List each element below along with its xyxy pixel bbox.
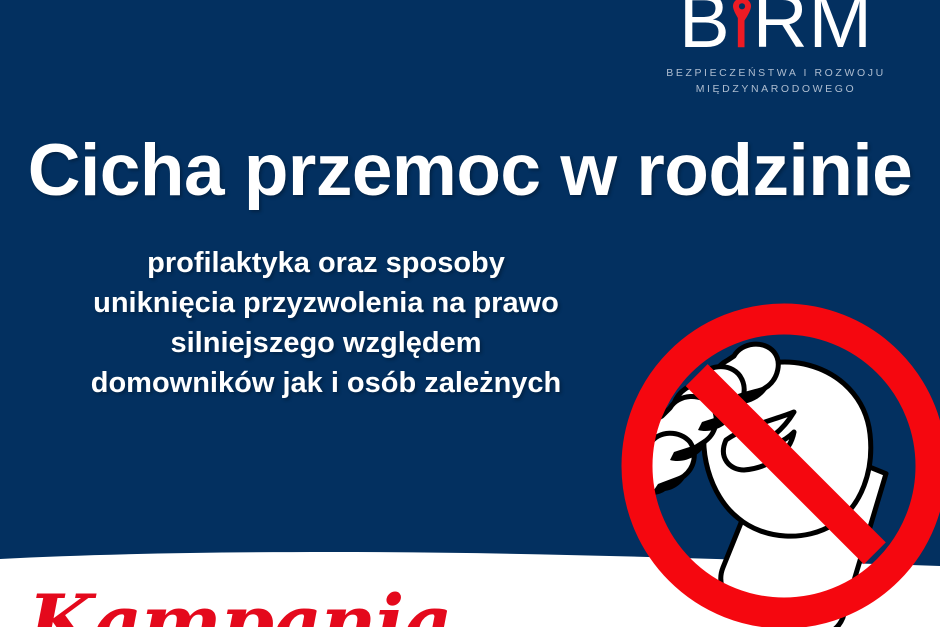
birm-logo: Bi RM BEZPIECZEŃSTWA I ROZWOJU MIĘDZYNAR… xyxy=(636,0,916,98)
no-violence-fist-icon xyxy=(618,298,940,627)
subtitle-line-1: profilaktyka oraz sposoby xyxy=(16,243,636,283)
subtitle-line-3: silniejszego względem xyxy=(16,323,636,363)
page-title: Cicha przemoc w rodzinie xyxy=(0,134,940,207)
subtitle-block: profilaktyka oraz sposoby uniknięcia prz… xyxy=(16,243,636,403)
birm-subtitle-line-1: BEZPIECZEŃSTWA I ROZWOJU xyxy=(636,65,916,81)
birm-subtitle-line-2: MIĘDZYNARODOWEGO xyxy=(636,81,916,97)
poster-canvas: Bi RM BEZPIECZEŃSTWA I ROZWOJU MIĘDZYNAR… xyxy=(0,0,940,627)
subtitle-line-2: uniknięcia przyzwolenia na prawo xyxy=(16,283,636,323)
no-violence-graphic xyxy=(618,298,940,627)
logo-letter-b: B xyxy=(679,0,731,64)
birm-wordmark: Bi RM xyxy=(679,0,873,60)
logo-letters-rm: RM xyxy=(753,0,873,64)
subtitle-line-4: domowników jak i osób zależnych xyxy=(16,363,636,403)
logo-letter-i-accent: i xyxy=(731,0,753,60)
birm-subtitle: BEZPIECZEŃSTWA I ROZWOJU MIĘDZYNARODOWEG… xyxy=(636,65,916,98)
campaign-script-text: Kampania xyxy=(28,585,451,627)
